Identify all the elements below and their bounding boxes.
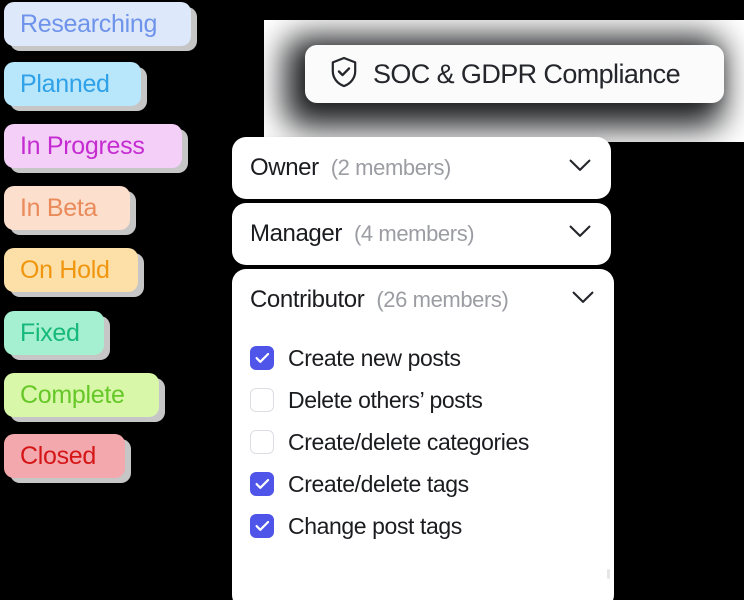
chevron-down-icon[interactable] [569,225,591,243]
status-tag-chip[interactable]: In Progress [4,124,182,168]
role-header-manager[interactable]: Manager (4 members) [232,203,611,265]
status-tag-chip[interactable]: Planned [4,62,141,106]
chevron-down-icon[interactable] [572,291,594,309]
status-tag-chip[interactable]: On Hold [4,248,138,292]
role-header-contributor[interactable]: Contributor (26 members) [232,269,614,331]
checkbox-checked-icon[interactable] [250,346,274,370]
role-card-contributor[interactable]: Contributor (26 members) Create new post… [232,269,614,600]
permission-list: Create new postsDelete others’ postsCrea… [232,331,614,547]
compliance-badge-label: SOC & GDPR Compliance [373,59,680,90]
permission-row[interactable]: Change post tags [250,505,614,547]
scrollbar-thumb[interactable] [607,569,610,579]
status-tag-label: In Beta [20,194,97,223]
checkbox-unchecked-icon[interactable] [250,430,274,454]
checkbox-unchecked-icon[interactable] [250,388,274,412]
permission-label: Delete others’ posts [288,387,482,414]
role-member-count-manager: (4 members) [354,221,474,247]
status-tag-label: Closed [20,442,96,471]
permission-label: Change post tags [288,513,462,540]
role-header-owner[interactable]: Owner (2 members) [232,137,611,199]
checkbox-checked-icon[interactable] [250,472,274,496]
permission-label: Create new posts [288,345,461,372]
role-name-owner: Owner [250,154,319,182]
permission-row[interactable]: Create/delete categories [250,421,614,463]
status-tag-label: On Hold [20,256,110,285]
soc-gdpr-compliance-badge[interactable]: SOC & GDPR Compliance [305,45,724,103]
status-tag-chip[interactable]: In Beta [4,186,130,230]
permission-row[interactable]: Create new posts [250,337,614,379]
permission-row[interactable]: Delete others’ posts [250,379,614,421]
status-tag-label: Researching [20,10,157,39]
status-tag-chip[interactable]: Fixed [4,311,104,355]
checkbox-checked-icon[interactable] [250,514,274,538]
permission-label: Create/delete tags [288,471,469,498]
screenshot-root: ResearchingPlannedIn ProgressIn BetaOn H… [0,0,744,600]
role-card-owner[interactable]: Owner (2 members) [232,137,611,199]
status-tag-label: Planned [20,70,110,99]
role-name-manager: Manager [250,220,342,248]
role-member-count-owner: (2 members) [331,155,451,181]
permission-label: Create/delete categories [288,429,529,456]
role-name-contributor: Contributor [250,286,364,314]
shield-check-icon [329,56,359,93]
status-tag-label: Fixed [20,319,80,348]
status-tag-chip[interactable]: Closed [4,434,125,478]
role-member-count-contributor: (26 members) [376,287,508,313]
status-tag-label: Complete [20,381,125,410]
status-tag-chip[interactable]: Complete [4,373,159,417]
status-tag-label: In Progress [20,132,145,161]
permission-row[interactable]: Create/delete tags [250,463,614,505]
status-tag-list: ResearchingPlannedIn ProgressIn BetaOn H… [0,0,232,600]
status-tag-chip[interactable]: Researching [4,2,191,46]
chevron-down-icon[interactable] [569,159,591,177]
role-card-manager[interactable]: Manager (4 members) [232,203,611,265]
